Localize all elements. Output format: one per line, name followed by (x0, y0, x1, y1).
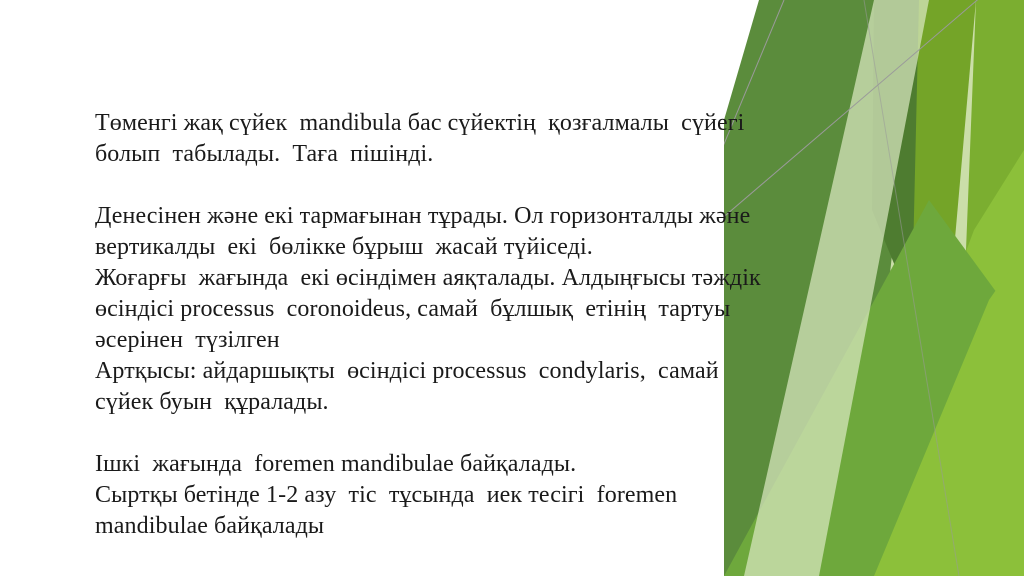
text-line: Ішкі жағында foremen mandibulae байқалад… (95, 451, 576, 477)
medium-green-column (912, 0, 976, 300)
paragraph-1: Төменгі жақ сүйек mandibula бас сүйектің… (95, 108, 795, 170)
text-line: өсіндісі processus coronoideus, самай бұ… (95, 296, 730, 322)
text-line: Артқысы: айдаршықты өсіндісі processus c… (95, 358, 719, 384)
bright-green-column (929, 0, 1024, 576)
pale-wedge-2 (784, 0, 1024, 576)
text-line: Денесінен және екі тармағынан тұрады. Ол… (95, 203, 750, 229)
paragraph-2: Денесінен және екі тармағынан тұрады. Ол… (95, 201, 795, 418)
text-line: сүйек буын құралады. (95, 389, 329, 415)
paragraph-3: Ішкі жағында foremen mandibulae байқалад… (95, 449, 795, 542)
text-line: Сыртқы бетінде 1-2 азу тіс тұсында иек т… (95, 482, 677, 508)
text-line: Жоғарғы жағында екі өсіндімен аяқталады.… (95, 265, 761, 291)
text-line: вертикалды екі бөлікке бұрыш жасай түйіс… (95, 234, 593, 260)
slide-canvas: Төменгі жақ сүйек mandibula бас сүйектің… (0, 0, 1024, 576)
light-green-bottom (844, 150, 1024, 576)
text-line: әсерінен түзілген (95, 327, 280, 353)
slide-body-text: Төменгі жақ сүйек mandibula бас сүйектің… (95, 108, 795, 542)
hairline-diagonal-steep (864, 0, 959, 576)
text-line: mandibulae байқалады (95, 513, 324, 539)
bright-green-bottom-right (874, 250, 1024, 576)
deep-green-wedge (872, 0, 934, 300)
text-line: болып табылады. Таға пішінді. (95, 141, 433, 167)
text-line: Төменгі жақ сүйек mandibula бас сүйектің… (95, 110, 744, 136)
